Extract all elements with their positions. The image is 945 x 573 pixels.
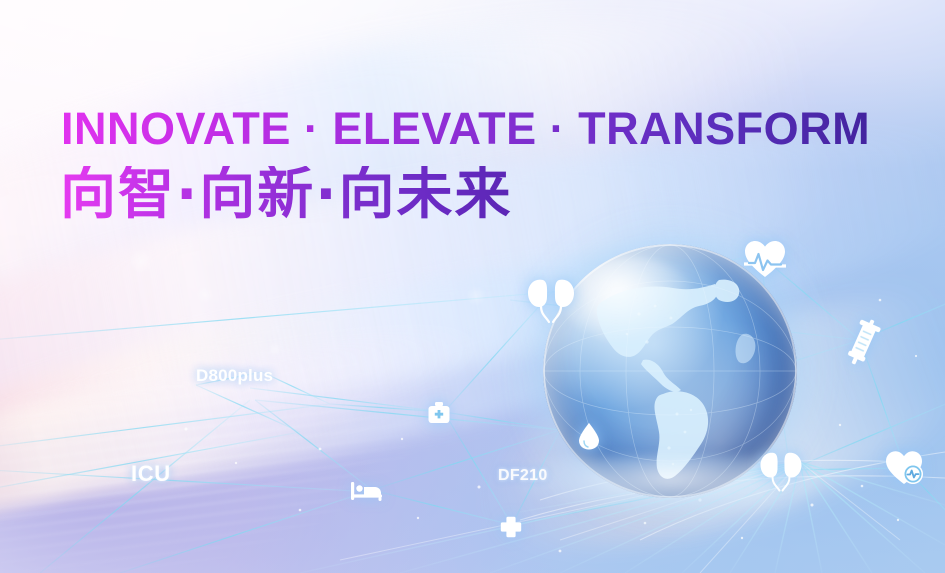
medical-kit-icon	[427, 401, 451, 425]
bokeh-dot	[466, 286, 486, 306]
bokeh-dot	[268, 342, 282, 356]
hospital-bed-icon	[351, 481, 383, 501]
kidneys-icon	[758, 450, 804, 492]
medical-cross-icon	[500, 516, 522, 538]
product-label-d800plus: D800plus	[196, 366, 273, 386]
kidneys-icon	[525, 276, 577, 324]
product-label-df210: DF210	[498, 467, 548, 485]
bokeh-dot	[196, 286, 214, 304]
page-title: INNOVATE · ELEVATE · TRANSFORM	[61, 106, 870, 151]
page-subtitle: 向智·向新·向未来	[60, 166, 513, 225]
bokeh-dot	[128, 248, 154, 274]
product-label-icu: ICU	[131, 461, 171, 487]
heart-pulse-icon	[744, 240, 786, 278]
marketing-banner: INNOVATE · ELEVATE · TRANSFORM 向智·向新·向未来…	[0, 0, 945, 573]
heart-pulse-badge-icon	[885, 450, 925, 486]
water-drop-icon	[578, 422, 600, 450]
